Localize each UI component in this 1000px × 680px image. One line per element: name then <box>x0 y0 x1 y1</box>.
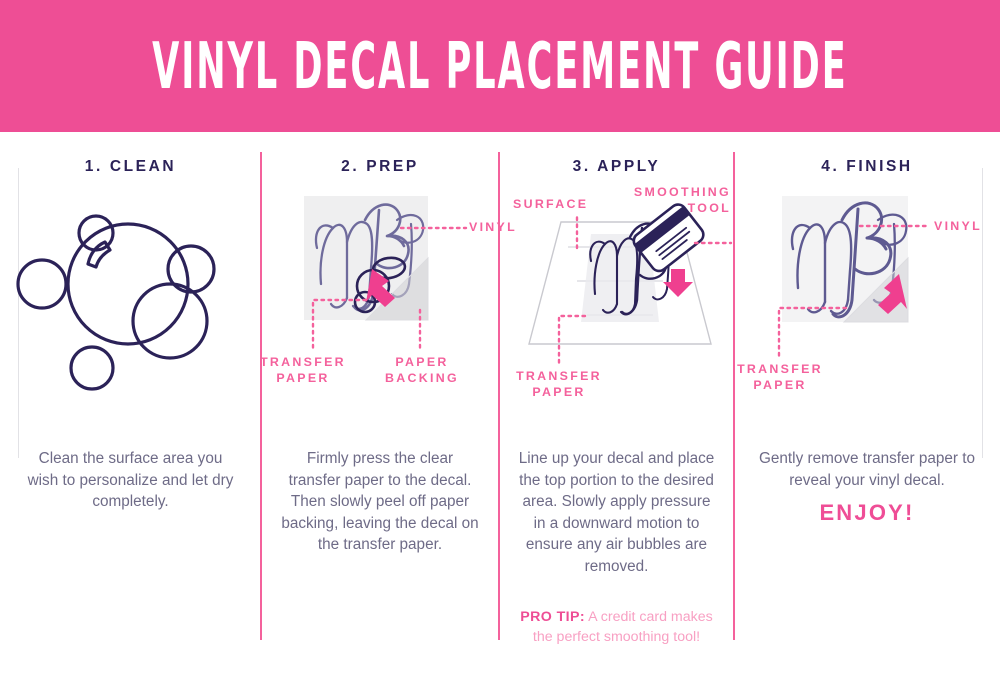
illustration-finish: VINYL TRANSFER PAPER <box>734 176 1000 448</box>
callout-label-vinyl: VINYL <box>934 218 982 234</box>
callout-label-transfer-paper: TRANSFER PAPER <box>249 354 357 386</box>
step-body-clean: Clean the surface area you wish to perso… <box>0 448 261 513</box>
step-column-finish: 4. FINISH <box>734 132 1000 680</box>
page-title: VINYL DECAL PLACEMENT GUIDE <box>152 29 848 103</box>
decal-peel-icon <box>261 176 499 448</box>
decal-reveal-icon <box>734 176 1000 448</box>
bubbles-icon <box>0 176 261 448</box>
callout-label-transfer-paper: TRANSFER PAPER <box>726 361 834 393</box>
enjoy-text: ENJOY! <box>819 500 914 526</box>
callout-label-transfer-paper: TRANSFER PAPER <box>505 368 613 400</box>
callout-label-surface: SURFACE <box>513 196 588 212</box>
step-body-apply: Line up your decal and place the top por… <box>499 448 734 577</box>
header-banner: VINYL DECAL PLACEMENT GUIDE <box>0 0 1000 132</box>
step-heading-prep: 2. PREP <box>341 158 419 176</box>
step-column-apply: 3. APPLY <box>499 132 734 680</box>
step-heading-apply: 3. APPLY <box>573 158 661 176</box>
callout-label-paper-backing: PAPER BACKING <box>373 354 471 386</box>
surface-apply-icon <box>499 176 734 448</box>
step-heading-clean: 1. CLEAN <box>85 158 176 176</box>
steps-columns: 1. CLEAN Clean the surface area you <box>0 132 1000 680</box>
pro-tip-lead: PRO TIP: <box>520 609 585 625</box>
illustration-clean <box>0 176 261 448</box>
step-body-prep: Firmly press the clear transfer paper to… <box>261 448 499 556</box>
step-column-clean: 1. CLEAN Clean the surface area you <box>0 132 261 680</box>
illustration-prep: VINYL TRANSFER PAPER PAPER BACKING <box>261 176 499 448</box>
pro-tip: PRO TIP: A credit card makes the perfect… <box>499 607 734 647</box>
step-column-prep: 2. PREP <box>261 132 499 680</box>
illustration-apply: SURFACE SMOOTHING TOOL TRANSFER PAPER <box>499 176 734 448</box>
infographic-page: VINYL DECAL PLACEMENT GUIDE 1. CLEAN <box>0 0 1000 680</box>
callout-label-smoothing-tool: SMOOTHING TOOL <box>619 184 731 216</box>
step-body-finish: Gently remove transfer paper to reveal y… <box>734 448 1000 491</box>
step-heading-finish: 4. FINISH <box>821 158 912 176</box>
